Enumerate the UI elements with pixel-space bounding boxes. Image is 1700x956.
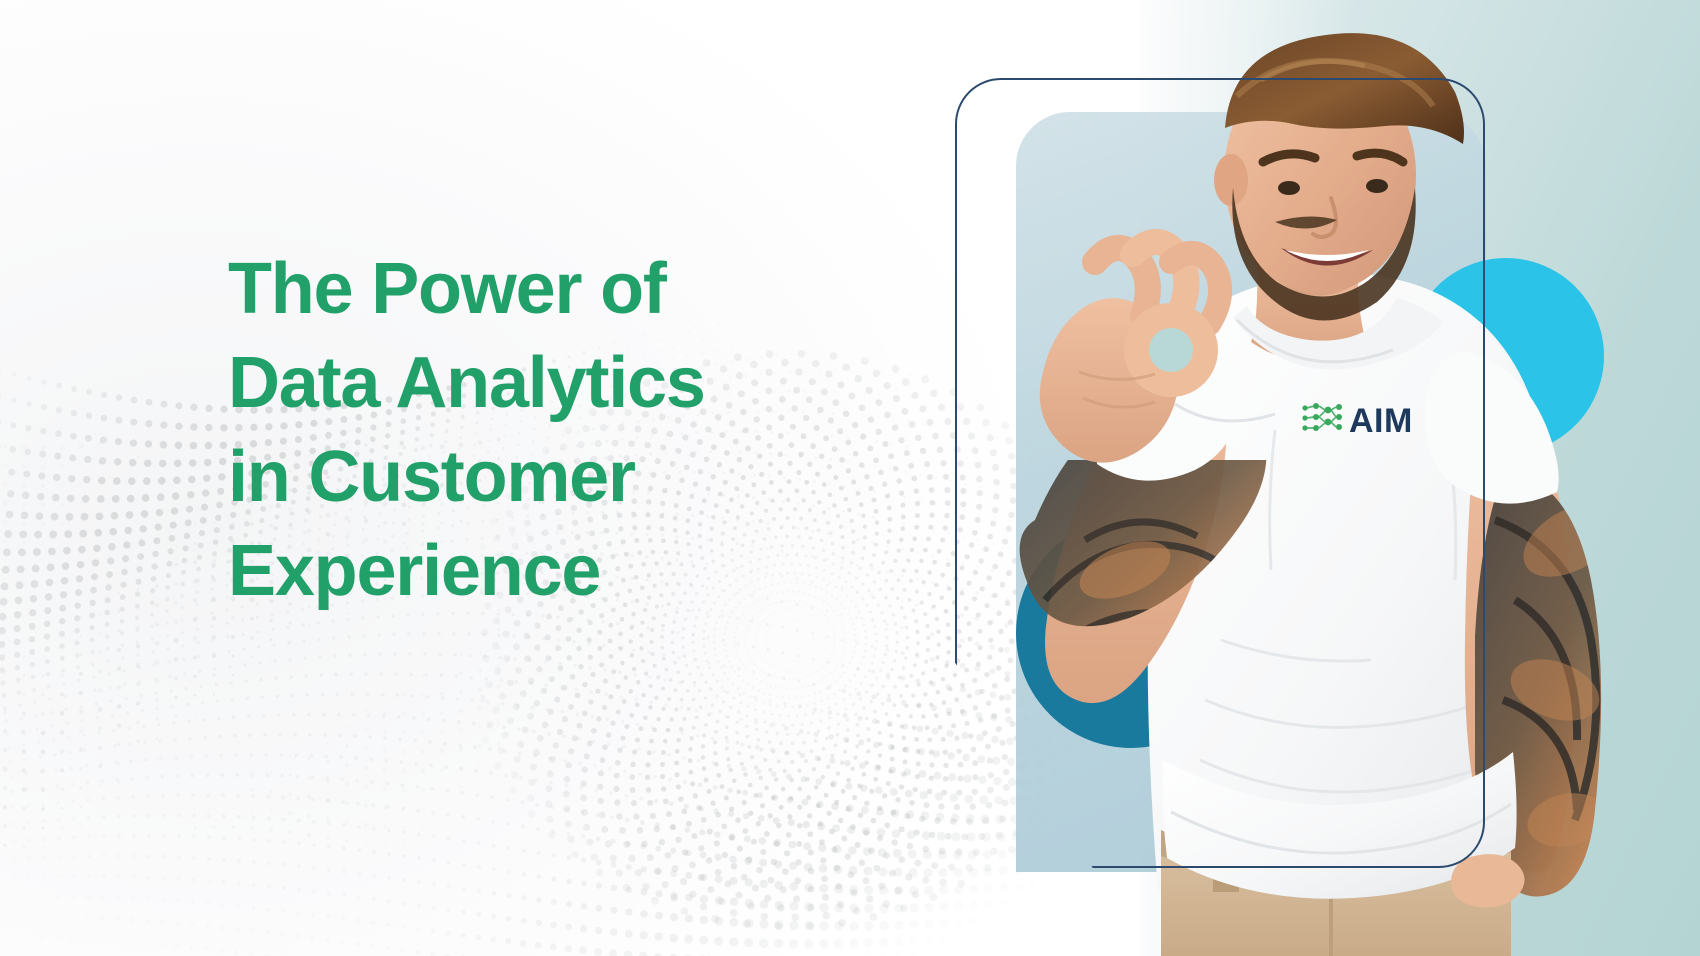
marketing-banner: AIM The Power of Data Analytics in Custo… — [0, 0, 1700, 956]
headline-line-3: in Customer — [228, 430, 868, 524]
headline-line-1: The Power of — [228, 242, 868, 336]
page-title: The Power of Data Analytics in Customer … — [228, 242, 868, 618]
rounded-rectangle-outline — [955, 78, 1485, 868]
headline-line-4: Experience — [228, 524, 868, 618]
headline-line-2: Data Analytics — [228, 336, 868, 430]
